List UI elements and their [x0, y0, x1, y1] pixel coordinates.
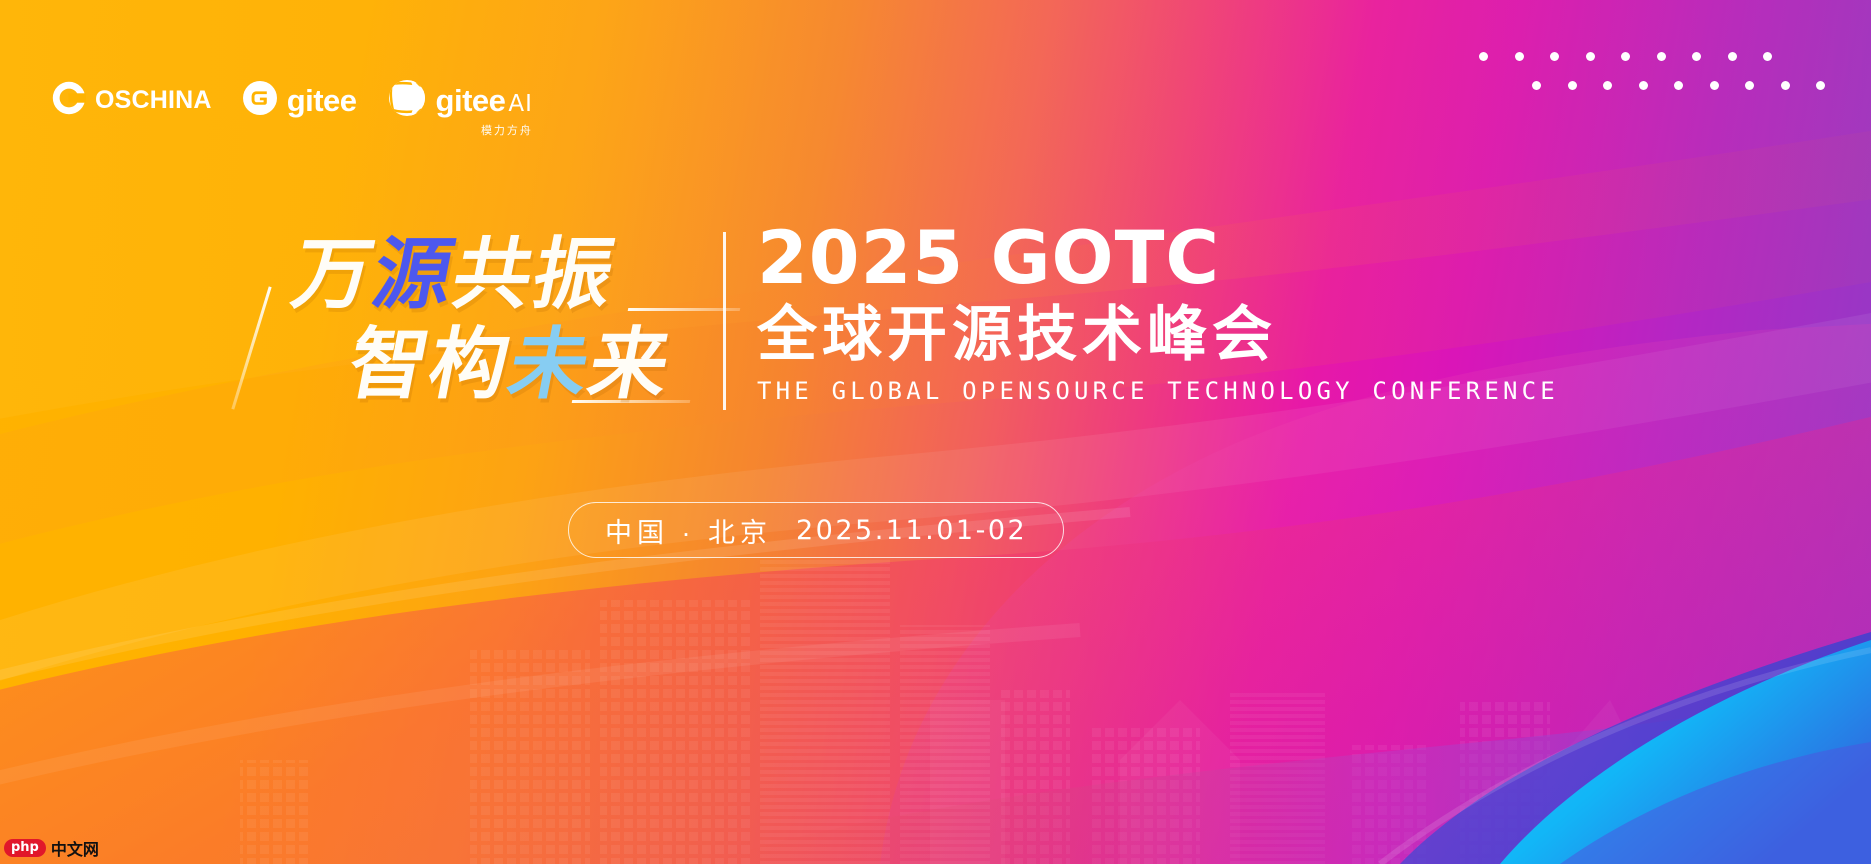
gitee-g-icon [242, 80, 278, 121]
dot [1568, 81, 1577, 90]
dot [1479, 52, 1488, 61]
vertical-divider [723, 232, 726, 410]
dot [1550, 52, 1559, 61]
dot [1532, 81, 1541, 90]
event-dates: 2025.11.01-02 [796, 515, 1027, 546]
conference-name-main: 2025 GOTC 2025 GOTC [757, 222, 1559, 295]
oschina-wordmark: OSCHINA [95, 88, 212, 113]
gitee-ai-wordmark: giteeAI [436, 85, 533, 116]
sponsor-logo-strip: OSCHINA gitee [52, 78, 533, 123]
dot [1692, 52, 1701, 61]
background-waves [0, 0, 1871, 864]
gitee-ai-globe-icon [387, 78, 427, 123]
slogan-char-lai: 来 [581, 320, 679, 410]
slogan-line-2: 智构未来 [342, 326, 677, 404]
location-date-pill: 中国 · 北京 2025.11.01-02 [568, 502, 1064, 558]
logo-gitee-ai[interactable]: giteeAI 模力方舟 [387, 78, 533, 123]
dot [1515, 52, 1524, 61]
dot [1745, 81, 1754, 90]
conference-name-chinese-text: 全球开源技术峰会 [757, 300, 1277, 370]
conference-title-block: 2025 GOTC 2025 GOTC 全球开源技术峰会 全球开源技术峰会 TH… [757, 222, 1559, 405]
dot [1621, 52, 1630, 61]
gitee-ai-suffix: AI [508, 91, 533, 117]
dot [1816, 81, 1825, 90]
gitee-ai-subtitle: 模力方舟 [481, 122, 533, 138]
php-badge: php [4, 839, 46, 857]
slogan-diagonal-accent [231, 286, 271, 409]
oschina-c-icon [52, 81, 86, 120]
dot [1781, 81, 1790, 90]
conference-name-main-shadow: 2025 GOTC [764, 230, 1227, 303]
dot [1586, 52, 1595, 61]
dot [1657, 52, 1666, 61]
dot [1710, 81, 1719, 90]
dot-row-bottom [1532, 81, 1825, 90]
conference-name-chinese: 全球开源技术峰会 全球开源技术峰会 [757, 305, 1559, 365]
dot-row-top [1479, 52, 1825, 61]
logo-oschina[interactable]: OSCHINA [52, 81, 212, 120]
gotc-conference-banner: OSCHINA gitee [0, 0, 1871, 864]
watermark-text: 中文网 [51, 836, 99, 860]
gitee-wordmark: gitee [287, 85, 357, 116]
slogan-chars-zhigou: 智构 [341, 320, 519, 410]
slogan-line-1: 万源共振 [286, 236, 621, 314]
dot [1763, 52, 1772, 61]
dot [1603, 81, 1612, 90]
conference-name-main-text: 2025 GOTC [757, 216, 1220, 301]
dot [1728, 52, 1737, 61]
gitee-ai-word: gitee [436, 83, 506, 118]
decorative-dot-grid [1479, 52, 1825, 90]
event-slogan: 万源共振 智构未来 [276, 222, 746, 422]
dot [1674, 81, 1683, 90]
slogan-chars-gongzhen: 共振 [445, 230, 623, 320]
php-cn-watermark: php 中文网 [4, 836, 99, 860]
conference-name-english: THE GLOBAL OPENSOURCE TECHNOLOGY CONFERE… [757, 377, 1559, 405]
event-location: 中国 · 北京 [605, 511, 772, 550]
dot [1639, 81, 1648, 90]
logo-gitee[interactable]: gitee [242, 80, 357, 121]
